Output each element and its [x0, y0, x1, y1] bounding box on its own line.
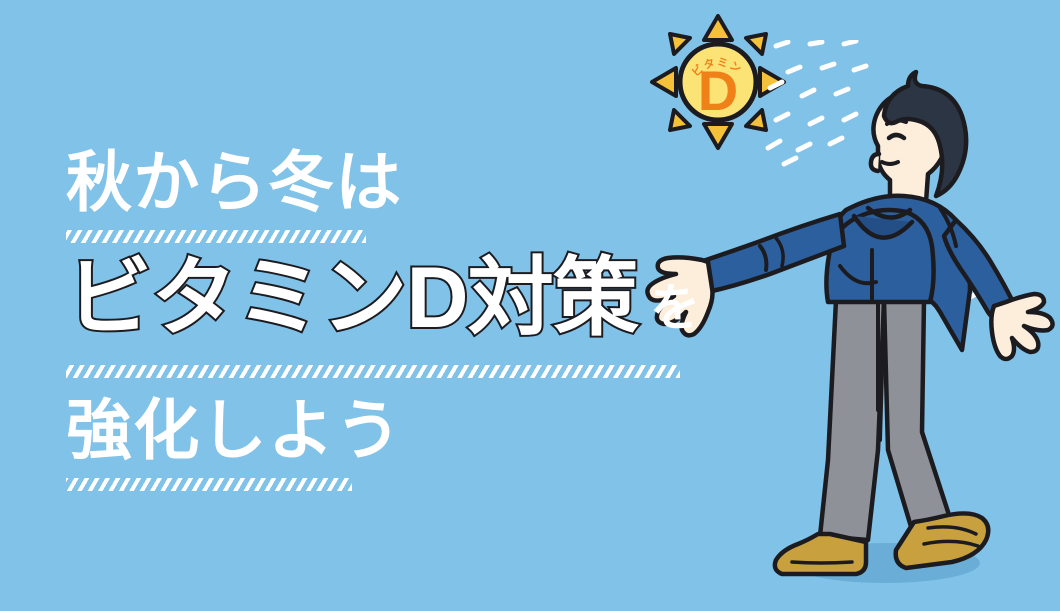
- left-shoe: [775, 534, 866, 574]
- left-trouser-leg: [820, 300, 884, 540]
- headline-line-2-particle: を: [650, 283, 702, 333]
- light-dash: [810, 42, 822, 44]
- headline-underline-2: [66, 365, 680, 378]
- mouth: [882, 162, 898, 164]
- headline-underline-3: [66, 478, 352, 491]
- light-dash: [776, 42, 788, 46]
- right-trouser-leg: [884, 300, 950, 530]
- ear: [871, 154, 879, 171]
- headline-line-2-main: ビタミンD対策: [66, 255, 638, 341]
- headline-line-2: ビタミンD対策を: [66, 255, 746, 355]
- headline-block: 秋から冬は ビタミンD対策を 強化しよう: [66, 140, 746, 491]
- vitamin-d-banner: ビタミン D: [0, 0, 1060, 611]
- light-dash: [844, 41, 856, 44]
- left-shoe-sole-line: [792, 562, 852, 563]
- headline-underline-1: [66, 230, 366, 243]
- headline-line-1: 秋から冬は: [66, 140, 746, 224]
- right-hand: [991, 294, 1052, 359]
- headline-line-3: 強化しよう: [66, 388, 746, 472]
- sun-ray-n: [704, 16, 732, 40]
